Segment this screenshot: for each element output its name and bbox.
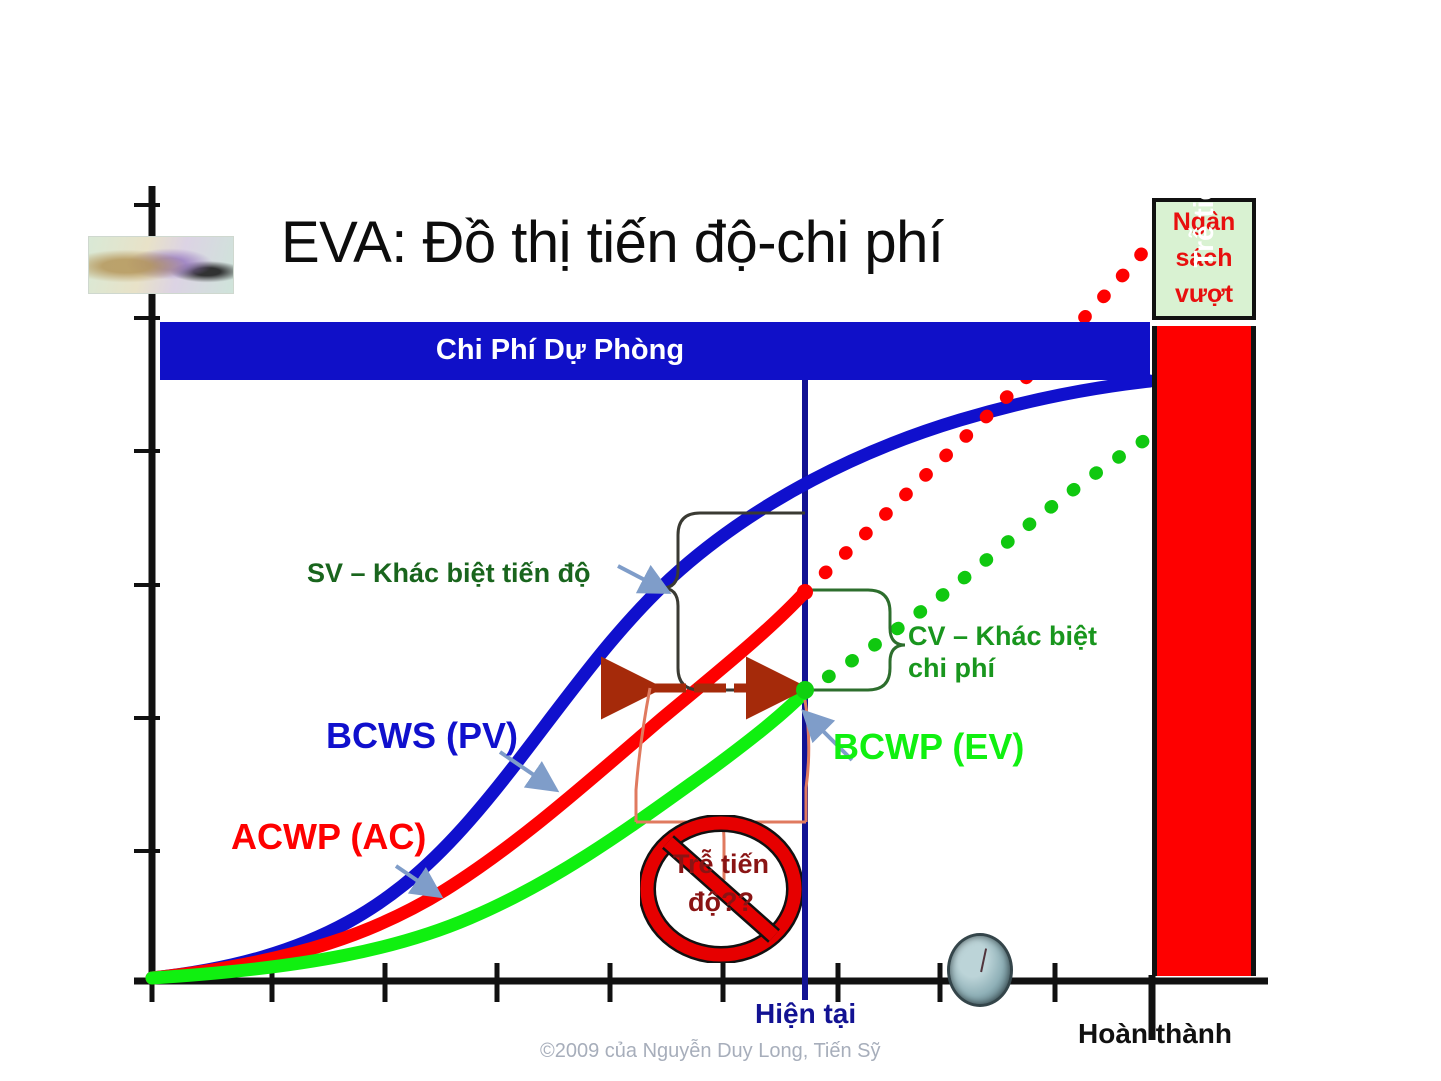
clock-icon [947,933,1013,1007]
contingency-cost-label: Chi Phí Dự Phòng [160,334,960,367]
page-title: EVA: Đồ thị tiến độ-chi phí [281,209,943,276]
no-delay-label: Trễ tiến độ?? [645,845,797,921]
cv-brace [805,590,905,690]
bcwp-series-label: BCWP (EV) [833,726,1024,768]
now-axis-label: Hiện tại [755,998,856,1030]
copyright-notice: ©2009 của Nguyễn Duy Long, Tiến Sỹ [540,1040,881,1063]
sv-pointer-arrow [618,566,668,592]
bcwp-now-point [796,681,814,699]
schedule-variance-label: SV – Khác biệt tiến độ [307,558,591,589]
acwp-series-label: ACWP (AC) [231,816,426,858]
forecast-delay-label: Trễ tiến độ được dự báo [1152,0,1256,430]
acwp-now-point [797,584,813,600]
banknote-thumbnail [88,236,234,294]
series-acwp-forecast [805,232,1160,592]
clock-hand [980,949,987,973]
cost-variance-label: CV – Khác biệt chi phí [908,620,1097,684]
slide-canvas: EVA: Đồ thị tiến độ-chi phí Chi Phí Dự P… [0,0,1441,1081]
finish-axis-label: Hoàn thành [1078,1018,1232,1050]
bcws-series-label: BCWS (PV) [326,715,518,757]
